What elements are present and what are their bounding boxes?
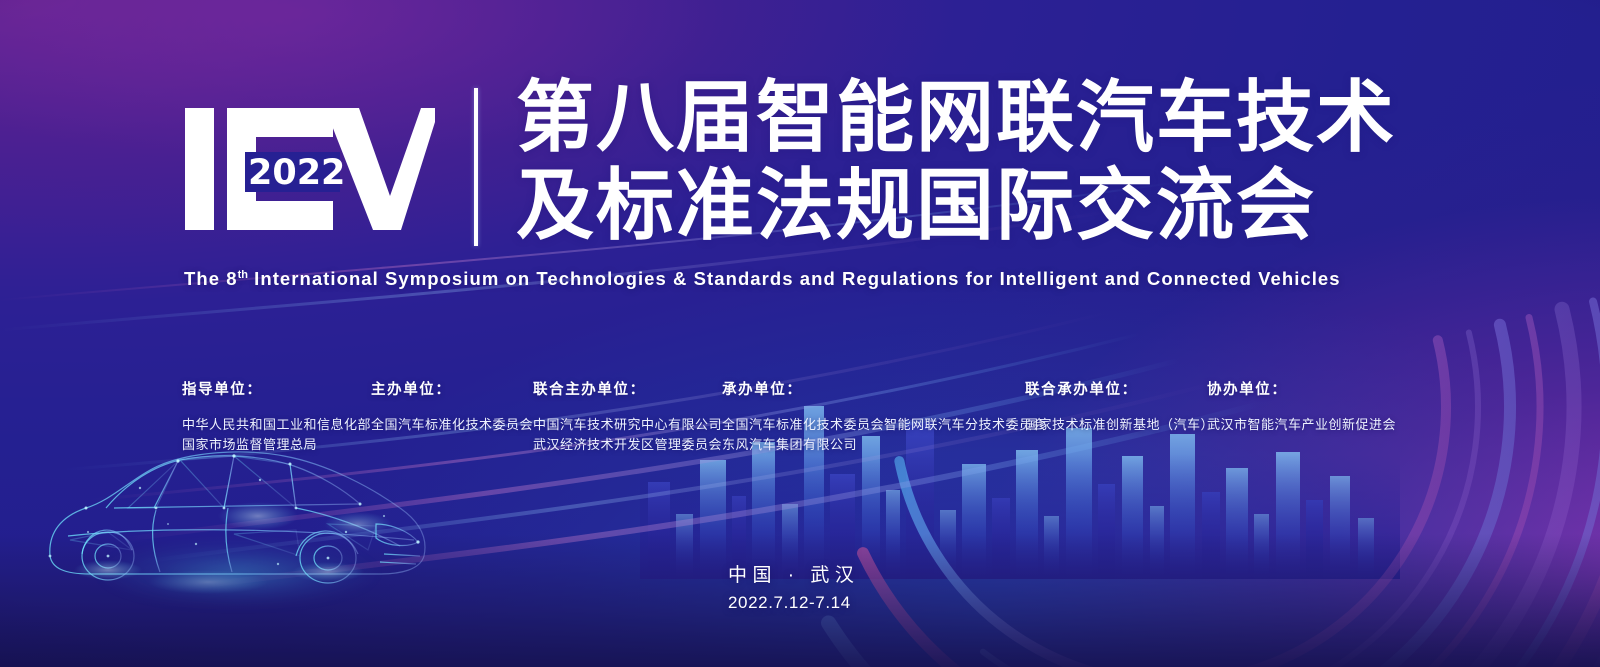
organizer-entries: 中华人民共和国工业和信息化部国家市场监督管理总局 — [182, 415, 371, 455]
organizer-entry: 国家市场监督管理总局 — [182, 435, 371, 455]
subtitle-prefix: The 8 — [184, 268, 238, 289]
subtitle-ordinal: th — [238, 269, 248, 281]
organizer-entries: 中国汽车技术研究中心有限公司武汉经济技术开发区管理委员会 — [533, 415, 722, 455]
conference-banner: 2022 第八届智能网联汽车技术 及标准法规国际交流会 The 8th Inte… — [0, 0, 1600, 667]
organizer-column: 联合承办单位：国家技术标准创新基地（汽车） — [1025, 378, 1214, 435]
organizer-entries: 全国汽车标准化技术委员会智能网联汽车分技术委员会东风汽车集团有限公司 — [722, 415, 1046, 455]
venue-block: 中国 · 武汉 2022.7.12-7.14 — [728, 560, 859, 613]
organizer-entry: 中华人民共和国工业和信息化部 — [182, 415, 371, 435]
organizer-entry: 东风汽车集团有限公司 — [722, 435, 1046, 455]
organizer-entries: 全国汽车标准化技术委员会 — [371, 415, 533, 435]
conference-subtitle-english: The 8th International Symposium on Techn… — [184, 268, 1341, 290]
organizer-entry: 武汉经济技术开发区管理委员会 — [533, 435, 722, 455]
title-line-2: 及标准法规国际交流会 — [516, 162, 1396, 250]
organizer-entry: 中国汽车技术研究中心有限公司 — [533, 415, 722, 435]
organizer-entry: 国家技术标准创新基地（汽车） — [1025, 415, 1214, 435]
organizer-list: 指导单位：中华人民共和国工业和信息化部国家市场监督管理总局主办单位：全国汽车标准… — [0, 378, 1600, 458]
venue-date: 2022.7.12-7.14 — [728, 593, 859, 613]
venue-city: 中国 · 武汉 — [728, 560, 859, 587]
organizer-entry: 全国汽车标准化技术委员会智能网联汽车分技术委员会 — [722, 415, 1046, 435]
organizer-entry: 全国汽车标准化技术委员会 — [371, 415, 533, 435]
organizer-column: 协办单位：武汉市智能汽车产业创新促进会 — [1207, 378, 1396, 435]
organizer-heading: 主办单位： — [371, 378, 533, 399]
organizer-entries: 武汉市智能汽车产业创新促进会 — [1207, 415, 1396, 435]
organizer-heading: 承办单位： — [722, 378, 1046, 399]
organizer-column: 联合主办单位：中国汽车技术研究中心有限公司武汉经济技术开发区管理委员会 — [533, 378, 722, 455]
conference-title: 第八届智能网联汽车技术 及标准法规国际交流会 — [516, 74, 1396, 250]
organizer-column: 主办单位：全国汽车标准化技术委员会 — [371, 378, 533, 435]
logo-year: 2022 — [248, 153, 345, 193]
organizer-heading: 联合主办单位： — [533, 378, 722, 399]
organizer-heading: 协办单位： — [1207, 378, 1396, 399]
organizer-entries: 国家技术标准创新基地（汽车） — [1025, 415, 1214, 435]
organizer-heading: 指导单位： — [182, 378, 371, 399]
subtitle-rest: International Symposium on Technologies … — [248, 268, 1341, 289]
organizer-column: 承办单位：全国汽车标准化技术委员会智能网联汽车分技术委员会东风汽车集团有限公司 — [722, 378, 1046, 455]
organizer-entry: 武汉市智能汽车产业创新促进会 — [1207, 415, 1396, 435]
organizer-column: 指导单位：中华人民共和国工业和信息化部国家市场监督管理总局 — [182, 378, 371, 455]
organizer-heading: 联合承办单位： — [1025, 378, 1214, 399]
logo-title-divider — [474, 88, 478, 246]
icv-logo: 2022 — [185, 100, 435, 245]
title-line-1: 第八届智能网联汽车技术 — [516, 74, 1396, 162]
